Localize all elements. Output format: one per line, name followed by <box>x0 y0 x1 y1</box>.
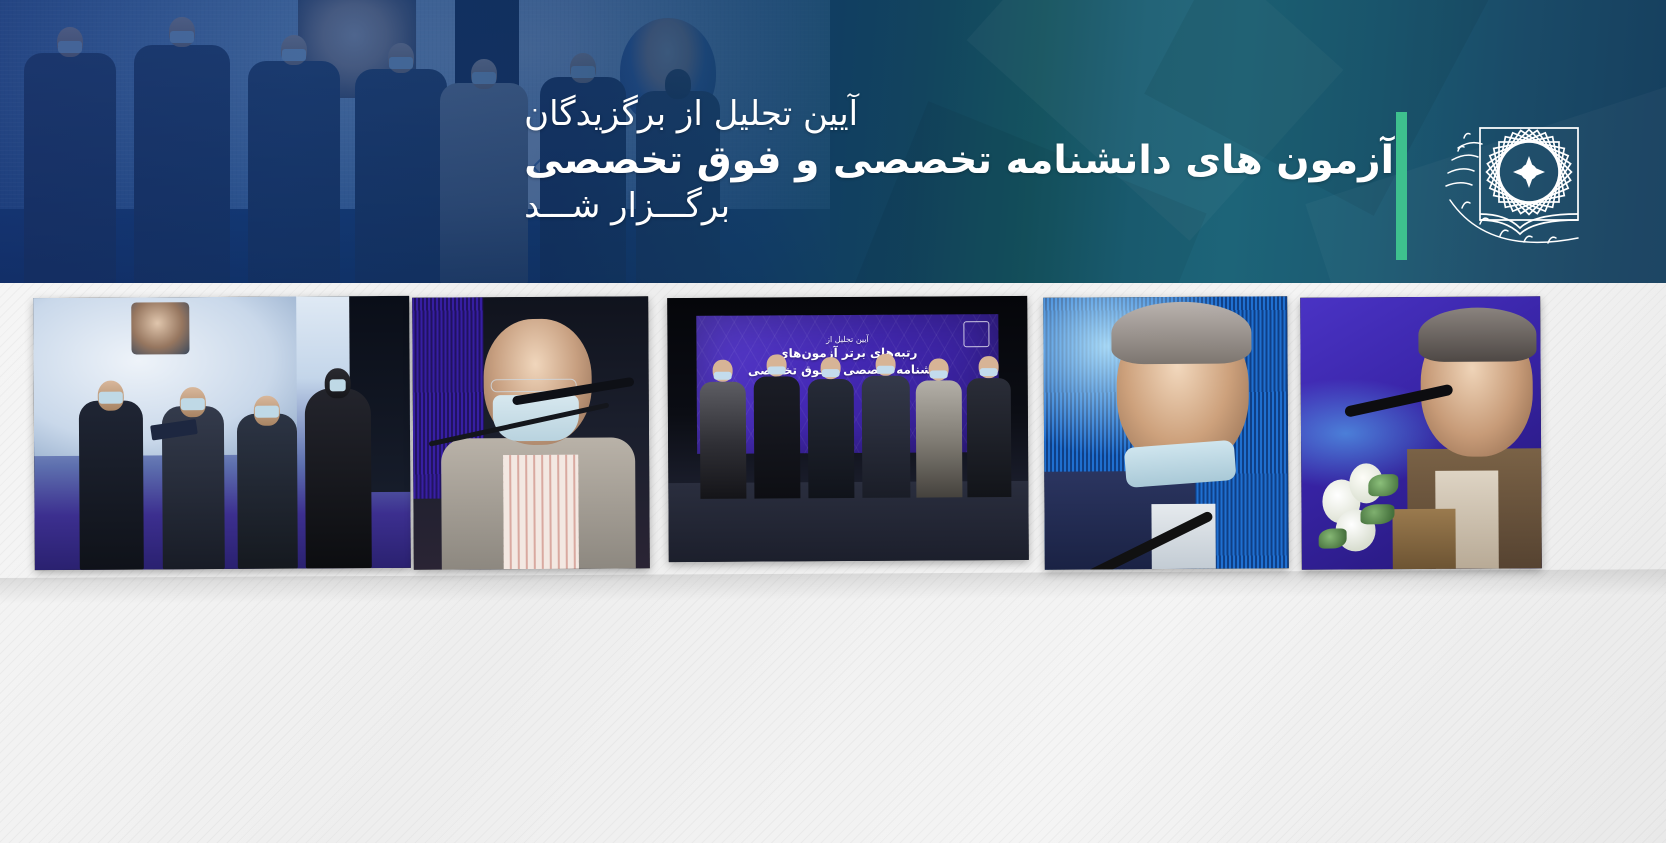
shahid-beheshti-university-logo <box>1428 88 1608 268</box>
figure-mask <box>329 380 345 392</box>
thumbnail-image: آیین تجلیل از رتبه‌های برتر آزمون‌های دا… <box>667 296 1029 562</box>
page-root: آیین تجلیل از برگزیدگان آزمون های دانشنا… <box>0 0 1666 843</box>
group-figure-6 <box>966 378 1011 497</box>
figure-mask <box>255 406 279 418</box>
banner-line-2: رتبه‌های برتر آزمون‌های <box>696 345 998 363</box>
flower-arrangement <box>1315 433 1426 570</box>
group-figure-4 <box>862 376 911 498</box>
speaker-shirt <box>503 454 579 569</box>
group-figure-1 <box>700 382 747 498</box>
university-emblem-icon <box>1428 88 1608 268</box>
speaker-hair <box>1112 302 1252 365</box>
figure-mask <box>768 367 786 375</box>
thumbnail-award-handshake[interactable] <box>33 296 411 570</box>
thumbnail-image <box>33 296 411 570</box>
thumbnail-speaker-closeup[interactable] <box>1043 296 1289 569</box>
figure-mask <box>99 392 123 404</box>
speaker-hair <box>1418 307 1536 362</box>
figure-mask <box>930 371 948 379</box>
green-accent-bar <box>1396 112 1407 260</box>
figure-mask <box>877 366 895 374</box>
thumbnail-image <box>412 296 650 569</box>
banner-text: آیین تجلیل از رتبه‌های برتر آزمون‌های دا… <box>696 334 999 379</box>
flower-leaf <box>1318 529 1346 549</box>
group-figure-5 <box>916 381 963 497</box>
thumbnail-image <box>1300 296 1542 569</box>
figure-mask <box>822 369 840 377</box>
figure-mask <box>714 372 732 380</box>
thumbnail-image <box>1043 296 1289 569</box>
thumbnail-speaker-podium[interactable] <box>412 296 650 569</box>
figure-4-woman <box>304 389 371 569</box>
thumbnail-group-on-stage[interactable]: آیین تجلیل از رتبه‌های برتر آزمون‌های دا… <box>667 296 1029 562</box>
hero-banner: آیین تجلیل از برگزیدگان آزمون های دانشنا… <box>0 0 1666 283</box>
figure-mask <box>181 398 205 410</box>
figure-3 <box>237 414 298 569</box>
figure-1 <box>79 401 144 570</box>
flower-leaf <box>1360 504 1394 524</box>
screen-portrait <box>131 303 189 355</box>
group-figure-2 <box>754 376 801 498</box>
flower-leaf <box>1369 474 1399 496</box>
group-figure-3 <box>808 379 855 498</box>
figure-mask <box>979 368 997 376</box>
headline-line-1: آیین تجلیل از برگزیدگان <box>524 96 1394 133</box>
headline-line-3: برگـــزار شـــد <box>524 188 1394 225</box>
hero-headline: آیین تجلیل از برگزیدگان آزمون های دانشنا… <box>524 96 1394 225</box>
headline-line-2: آزمون های دانشنامه تخصصی و فوق تخصصی <box>524 140 1394 182</box>
banner-line-3: دانشنامه تخصصی و فوق تخصصی <box>696 361 998 379</box>
thumbnail-speaker-flowers[interactable] <box>1300 296 1542 569</box>
banner-line-1: آیین تجلیل از <box>696 334 998 347</box>
thumbnail-strip: آیین تجلیل از رتبه‌های برتر آزمون‌های دا… <box>0 283 1666 583</box>
lowered-face-mask <box>1123 440 1236 488</box>
